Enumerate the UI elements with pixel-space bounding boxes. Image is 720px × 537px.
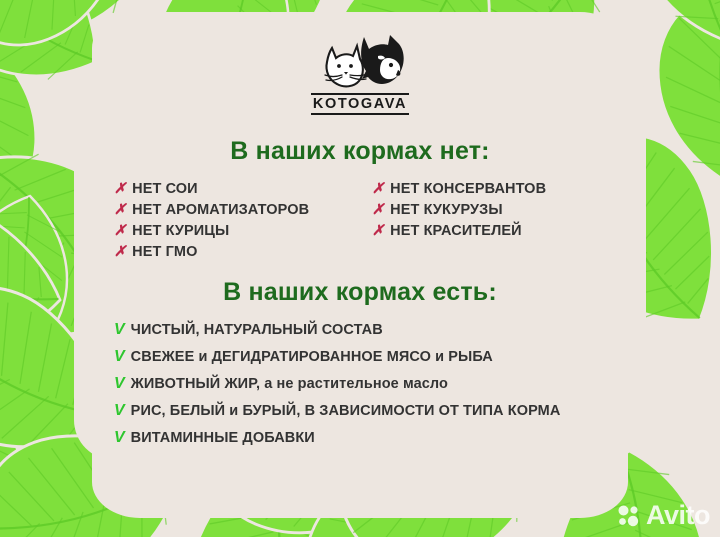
- poster-canvas: KOTOGAVA В наших кормах нет: ✗ НЕТ СОИ ✗…: [0, 0, 720, 537]
- list-item: ✗ НЕТ КРАСИТЕЛЕЙ: [372, 224, 614, 239]
- content-area: KOTOGAVA В наших кормах нет: ✗ НЕТ СОИ ✗…: [96, 0, 624, 537]
- check-icon: V: [114, 322, 125, 338]
- list-item-label: НЕТ КУРИЦЫ: [132, 224, 229, 239]
- list-item: ✗ НЕТ АРОМАТИЗАТОРОВ: [114, 203, 372, 218]
- avito-wordmark: Avito: [646, 502, 710, 529]
- no-ingredients-list: ✗ НЕТ СОИ ✗ НЕТ АРОМАТИЗАТОРОВ ✗ НЕТ КУР…: [114, 182, 614, 266]
- list-item-label: НЕТ КОНСЕРВАНТОВ: [390, 182, 546, 197]
- cross-icon: ✗: [372, 182, 384, 197]
- brand-name: KOTOGAVA: [311, 93, 409, 115]
- list-item-label: НЕТ КРАСИТЕЛЕЙ: [390, 224, 521, 239]
- list-item: V РИС, БЕЛЫЙ и БУРЫЙ, В ЗАВИСИМОСТИ ОТ Т…: [114, 403, 624, 419]
- list-item-label: НЕТ АРОМАТИЗАТОРОВ: [132, 203, 309, 218]
- list-item: V СВЕЖЕЕ и ДЕГИДРАТИРОВАННОЕ МЯСО и РЫБА: [114, 349, 624, 365]
- cross-icon: ✗: [114, 224, 126, 239]
- check-icon: V: [114, 430, 125, 446]
- list-item: ✗ НЕТ КУРИЦЫ: [114, 224, 372, 239]
- check-icon: V: [114, 349, 125, 365]
- cross-icon: ✗: [372, 224, 384, 239]
- list-item: V ЧИСТЫЙ, НАТУРАЛЬНЫЙ СОСТАВ: [114, 322, 624, 338]
- cross-icon: ✗: [114, 182, 126, 197]
- list-item-label: ЧИСТЫЙ, НАТУРАЛЬНЫЙ СОСТАВ: [131, 323, 383, 338]
- check-icon: V: [114, 403, 125, 419]
- no-list-column-right: ✗ НЕТ КОНСЕРВАНТОВ ✗ НЕТ КУКУРУЗЫ ✗ НЕТ …: [372, 182, 614, 266]
- list-item-label: НЕТ КУКУРУЗЫ: [390, 203, 502, 218]
- cross-icon: ✗: [114, 203, 126, 218]
- list-item-label: РИС, БЕЛЫЙ и БУРЫЙ, В ЗАВИСИМОСТИ ОТ ТИП…: [131, 404, 561, 419]
- no-list-column-left: ✗ НЕТ СОИ ✗ НЕТ АРОМАТИЗАТОРОВ ✗ НЕТ КУР…: [114, 182, 372, 266]
- check-icon: V: [114, 376, 125, 392]
- list-item: ✗ НЕТ КОНСЕРВАНТОВ: [372, 182, 614, 197]
- cat-and-dog-head-icon: [312, 32, 408, 90]
- list-item-label: НЕТ ГМО: [132, 245, 197, 260]
- yes-ingredients-list: V ЧИСТЫЙ, НАТУРАЛЬНЫЙ СОСТАВ V СВЕЖЕЕ и …: [114, 322, 624, 457]
- list-item-label: НЕТ СОИ: [132, 182, 198, 197]
- section-heading-no: В наших кормах нет:: [96, 137, 624, 166]
- cross-icon: ✗: [114, 245, 126, 260]
- list-item: ✗ НЕТ КУКУРУЗЫ: [372, 203, 614, 218]
- avito-watermark: Avito: [617, 502, 710, 529]
- list-item: V ВИТАМИННЫЕ ДОБАВКИ: [114, 430, 624, 446]
- cross-icon: ✗: [372, 203, 384, 218]
- section-heading-yes: В наших кормах есть:: [96, 278, 624, 307]
- avito-dots-icon: [617, 504, 641, 528]
- list-item: V ЖИВОТНЫЙ ЖИР, а не растительное масло: [114, 376, 624, 392]
- list-item: ✗ НЕТ СОИ: [114, 182, 372, 197]
- brand-logo: KOTOGAVA: [96, 32, 624, 115]
- list-item-label: СВЕЖЕЕ и ДЕГИДРАТИРОВАННОЕ МЯСО и РЫБА: [131, 350, 493, 365]
- list-item-label: ЖИВОТНЫЙ ЖИР, а не растительное масло: [131, 377, 448, 392]
- list-item-label: ВИТАМИННЫЕ ДОБАВКИ: [131, 431, 315, 446]
- list-item: ✗ НЕТ ГМО: [114, 245, 372, 260]
